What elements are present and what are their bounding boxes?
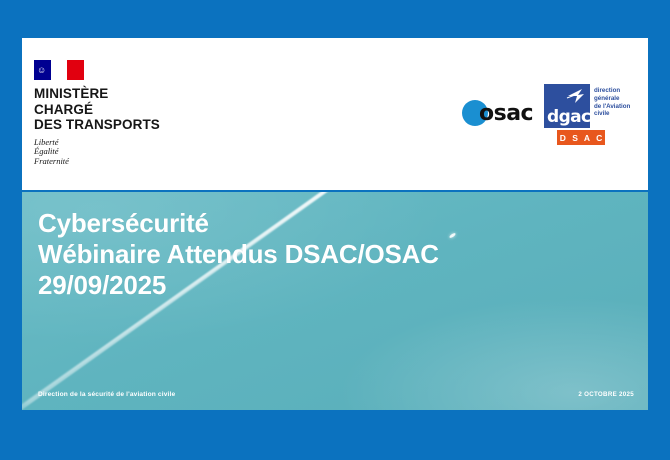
dgac-caption-line-2: générale [594, 95, 630, 103]
flag-red-band [67, 60, 84, 80]
dgac-bird-plane-icon [566, 87, 586, 105]
dgac-logo-row: dgac direction générale de l'Aviation ci… [544, 84, 644, 128]
title-line-2: Wébinaire Attendus DSAC/OSAC [38, 239, 439, 270]
osac-logo: osac [462, 96, 533, 130]
ministry-motto: Liberté Égalité Fraternité [34, 138, 264, 167]
dgac-caption-line-1: direction [594, 87, 630, 95]
dgac-caption-line-4: civile [594, 110, 630, 118]
slide-frame: ☺ MINISTÈRE CHARGÉ DES TRANSPORTS Libert… [0, 0, 670, 460]
ministry-name-line-2: CHARGÉ [34, 102, 264, 118]
motto-liberte: Liberté [34, 138, 264, 148]
flag-white-band [51, 60, 68, 80]
motto-fraternite: Fraternité [34, 157, 264, 167]
hero-footer: Direction de la sécurité de l'aviation c… [22, 388, 648, 400]
dgac-caption: direction générale de l'Aviation civile [594, 84, 630, 118]
marianne-profile-icon: ☺ [37, 64, 47, 76]
dsac-label-bar: D S A C [557, 130, 605, 145]
flag-blue-band: ☺ [34, 60, 51, 80]
ministry-name-line-3: DES TRANSPORTS [34, 117, 264, 133]
page-title: Cybersécurité Wébinaire Attendus DSAC/OS… [38, 208, 439, 301]
french-flag-marianne-icon: ☺ [34, 60, 84, 80]
title-line-1: Cybersécurité [38, 208, 439, 239]
osac-wordmark: osac [479, 101, 533, 126]
footer-organization: Direction de la sécurité de l'aviation c… [38, 391, 175, 398]
footer-date: 2 OCTOBRE 2025 [578, 391, 634, 398]
dgac-blue-box: dgac [544, 84, 590, 128]
dgac-logo: dgac direction générale de l'Aviation ci… [544, 84, 644, 145]
ministry-name-line-1: MINISTÈRE [34, 86, 264, 102]
dgac-wordmark: dgac [547, 109, 591, 126]
hero-band: Cybersécurité Wébinaire Attendus DSAC/OS… [22, 192, 648, 410]
ministry-logo: ☺ MINISTÈRE CHARGÉ DES TRANSPORTS Libert… [34, 60, 264, 166]
header-band: ☺ MINISTÈRE CHARGÉ DES TRANSPORTS Libert… [22, 38, 648, 190]
dgac-caption-line-3: de l'Aviation [594, 103, 630, 111]
title-line-3: 29/09/2025 [38, 270, 439, 301]
